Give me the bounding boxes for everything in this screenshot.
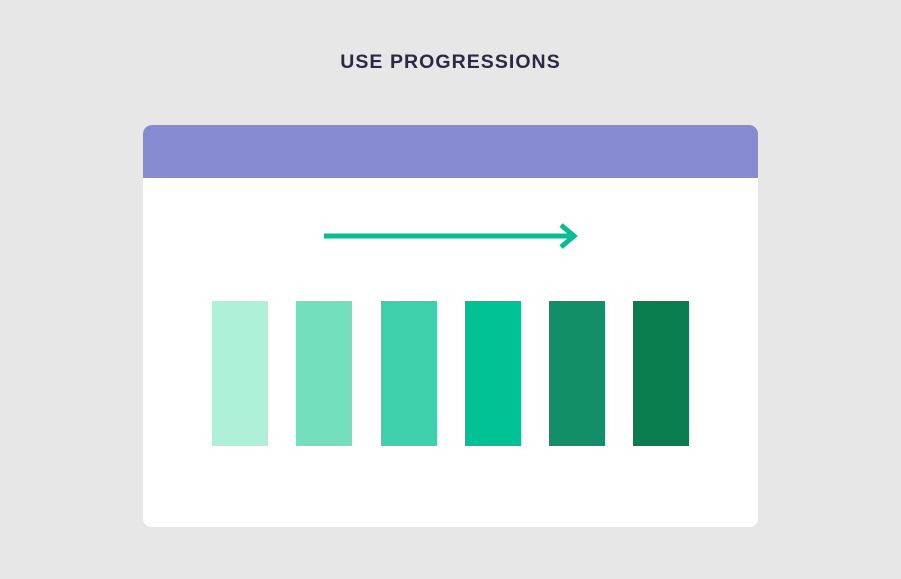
card-body [143,178,758,527]
illustration-canvas: USE PROGRESSIONS [0,0,901,579]
bar-1 [212,301,268,446]
bar-3 [381,301,437,446]
arrow-right-icon [323,222,581,250]
progression-arrow [323,222,581,250]
bar-5 [549,301,605,446]
page-title: USE PROGRESSIONS [0,48,901,76]
bar-group [212,301,689,446]
bar-4 [465,301,521,446]
progression-card [143,125,758,527]
bar-2 [296,301,352,446]
card-header-bar [143,125,758,178]
bar-6 [633,301,689,446]
